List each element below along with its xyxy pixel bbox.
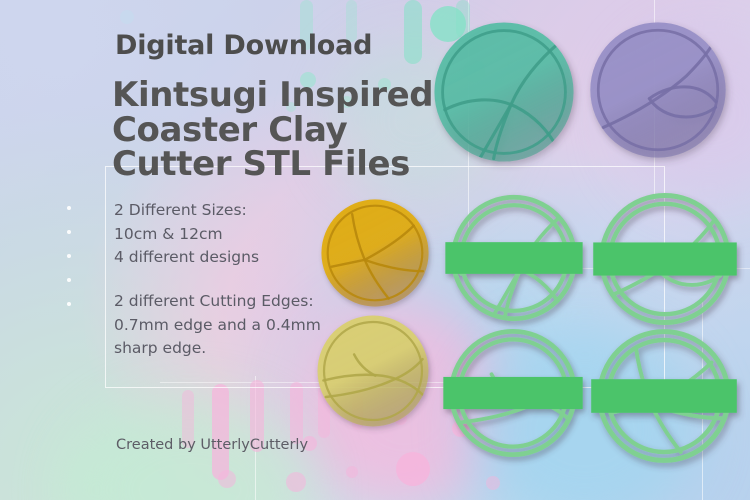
feature-block-edges: 2 different Cutting Edges: 0.7mm edge an… [114, 290, 321, 361]
bullet-dots [67, 206, 77, 326]
feature-block-sizes: 2 Different Sizes: 10cm & 12cm 4 differe… [114, 199, 259, 270]
green-cutter-top-right [596, 190, 734, 328]
green-cutter-top-left [448, 192, 580, 324]
credit-text: Created by UtterlyCutterly [116, 437, 308, 453]
coaster-body [318, 316, 429, 427]
bullet-dot [67, 254, 71, 258]
bullet-dot [67, 302, 71, 306]
gold-coaster [318, 196, 432, 310]
cutter-handle-band [593, 242, 737, 275]
bullet-dot [67, 278, 71, 282]
cutter-handle-band [591, 379, 737, 413]
page-title: Kintsugi Inspired Coaster Clay Cutter ST… [112, 78, 433, 182]
teal-coaster [430, 18, 578, 166]
kicker-text: Digital Download [115, 30, 372, 61]
green-cutter-bottom-right [594, 326, 734, 466]
coaster-body [590, 22, 725, 157]
purple-coaster [586, 18, 730, 162]
cutter-handle-band [443, 377, 582, 409]
green-cutter-bottom-left [446, 326, 580, 460]
bullet-dot [67, 230, 71, 234]
cutter-handle-band [445, 242, 582, 274]
design-canvas: Digital Download Kintsugi Inspired Coast… [0, 0, 750, 500]
pale-yellow-coaster [314, 312, 432, 430]
bullet-dot [67, 206, 71, 210]
